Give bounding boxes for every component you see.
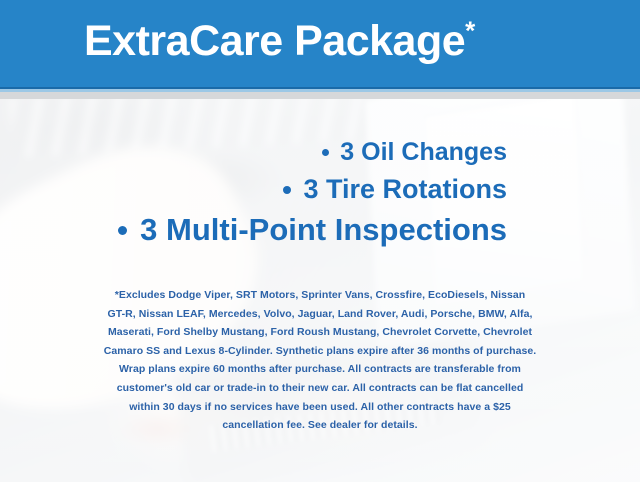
benefit-label: 3 Oil Changes (340, 138, 507, 167)
fine-print-line: Maserati, Ford Shelby Mustang, Ford Rous… (36, 323, 604, 342)
benefit-label: 3 Multi-Point Inspections (140, 212, 507, 248)
extracare-package-ad: ExtraCare Package* 3 Oil Changes 3 Tire … (0, 0, 640, 482)
benefits-list: 3 Oil Changes 3 Tire Rotations 3 Multi-P… (0, 138, 640, 248)
fine-print-line: Wrap plans expire 60 months after purcha… (36, 360, 604, 379)
fine-print-line: GT-R, Nissan LEAF, Mercedes, Volvo, Jagu… (36, 305, 604, 324)
fine-print-disclaimer: *Excludes Dodge Viper, SRT Motors, Sprin… (36, 286, 604, 435)
fine-print-line: customer's old car or trade-in to their … (36, 379, 604, 398)
page-title-asterisk: * (465, 16, 475, 46)
bullet-dot-icon (283, 186, 291, 194)
fine-print-line: within 30 days if no services have been … (36, 398, 604, 417)
benefit-item-oil-changes: 3 Oil Changes (0, 138, 640, 167)
fine-print-line: Camaro SS and Lexus 8-Cylinder. Syntheti… (36, 342, 604, 361)
benefit-item-tire-rotations: 3 Tire Rotations (0, 174, 640, 205)
benefit-item-multi-point-inspections: 3 Multi-Point Inspections (0, 212, 640, 248)
bullet-dot-icon (322, 149, 329, 156)
page-title-text: ExtraCare Package (84, 17, 465, 65)
banner-edge-gray (0, 92, 640, 99)
fine-print-line: *Excludes Dodge Viper, SRT Motors, Sprin… (36, 286, 604, 305)
bullet-dot-icon (118, 226, 127, 235)
benefit-label: 3 Tire Rotations (303, 174, 507, 205)
page-title: ExtraCare Package* (84, 17, 475, 66)
fine-print-line: cancellation fee. See dealer for details… (36, 416, 604, 435)
